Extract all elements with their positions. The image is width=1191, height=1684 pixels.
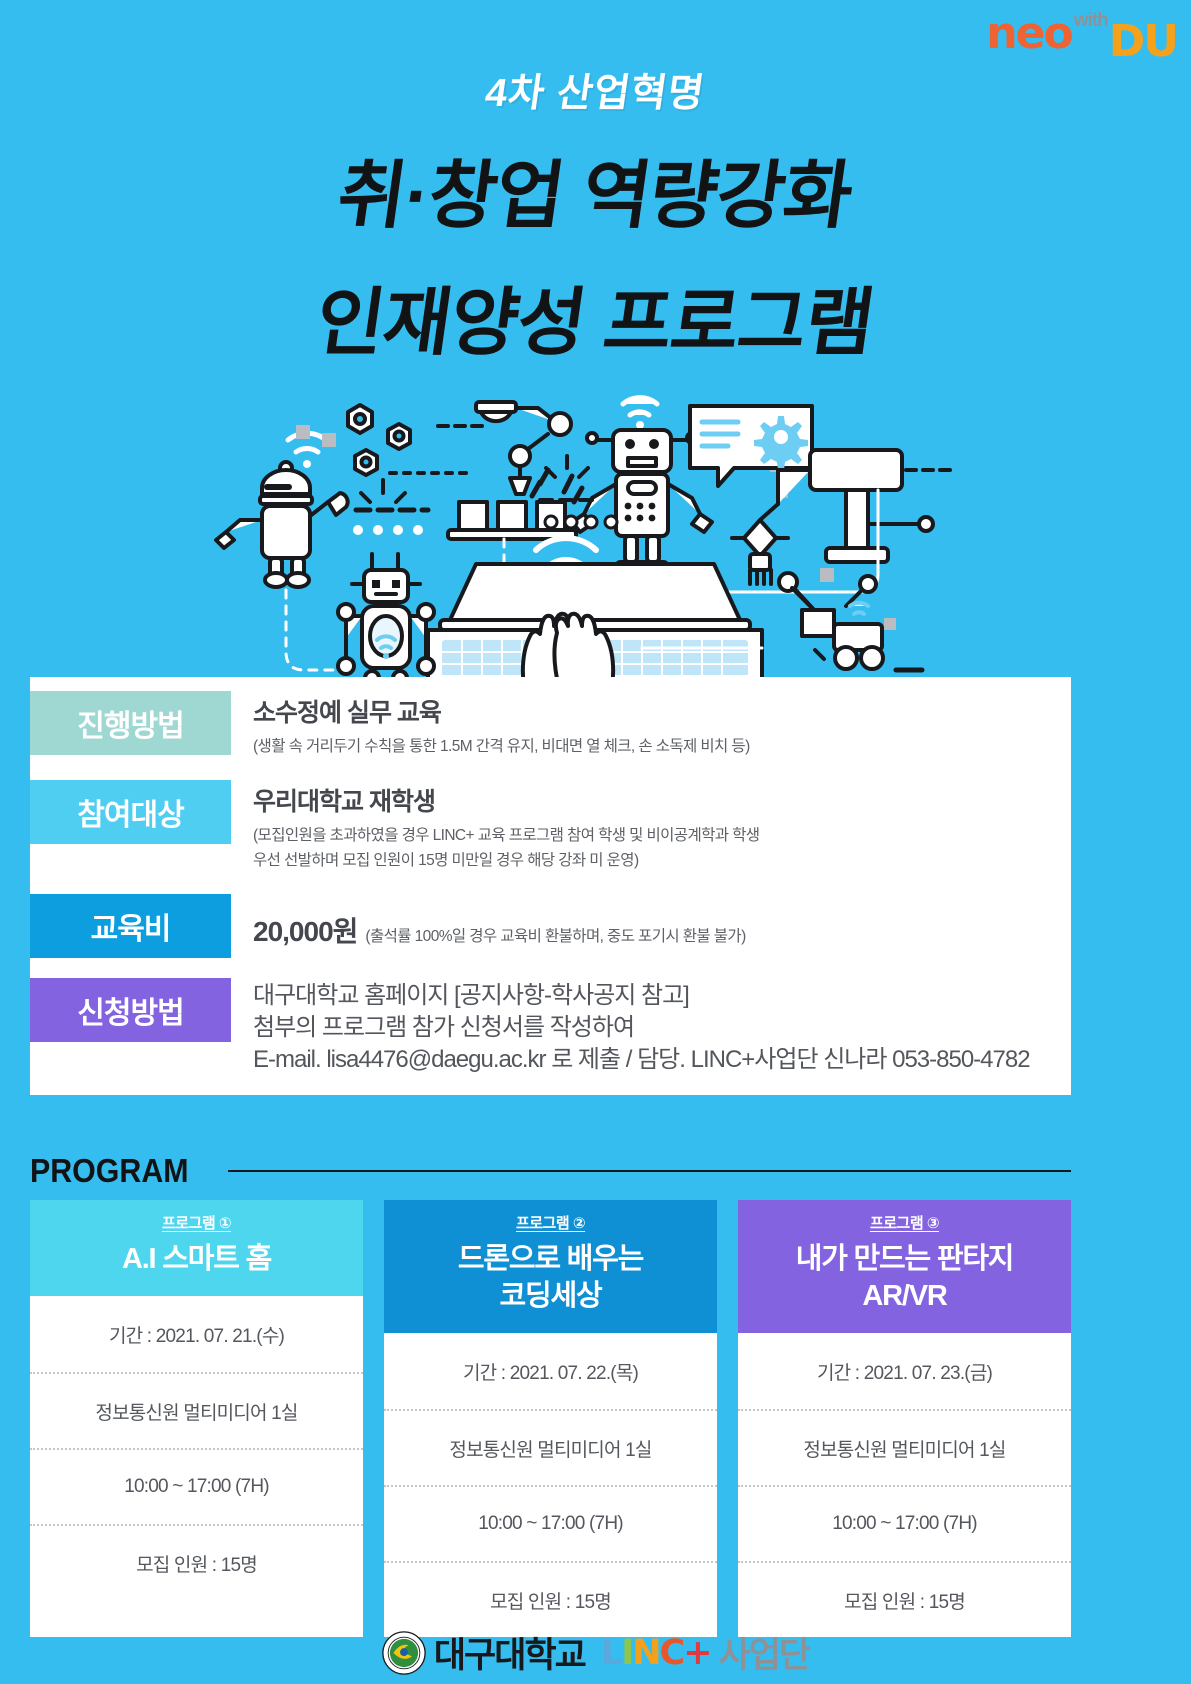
robot-left (216, 462, 348, 587)
info-label-audience: 참여대상 (30, 780, 231, 844)
program-card-1-location: 정보통신원 멀티미디어 1실 (30, 1372, 363, 1448)
info-label-method: 진행방법 (30, 691, 231, 755)
info-body-apply: 대구대학교 홈페이지 [공지사항-학사공지 참고] 첨부의 프로그램 참가 신청… (231, 978, 1030, 1076)
program-card-1[interactable]: 프로그램 ① A.I 스마트 홈 기간 : 2021. 07. 21.(수) 정… (30, 1200, 363, 1637)
robotic-arm-camera (476, 402, 571, 494)
linc-letter-i: I (621, 1633, 632, 1673)
program-card-1-header: 프로그램 ① A.I 스마트 홈 (30, 1200, 363, 1296)
brand-neo-text: neo (986, 8, 1071, 59)
divider (228, 1170, 1071, 1172)
info-row-method: 진행방법 소수정예 실무 교육 (생활 속 거리두기 수칙을 통한 1.5M 간… (30, 691, 1071, 760)
daegu-university-seal-icon (382, 1631, 426, 1675)
program-card-3-location: 정보통신원 멀티미디어 1실 (738, 1409, 1071, 1485)
illustration-svg (0, 378, 1191, 688)
info-sub-audience-1: (모집인원을 초과하였을 경우 LINC+ 교육 프로그램 참여 학생 및 비이… (253, 823, 759, 849)
program-card-2-title: 드론으로 배우는 (394, 1241, 707, 1278)
title-line-1: 취·창업 역량강화 (0, 136, 1191, 243)
info-body-fee: 20,000원 (출석률 100%일 경우 교육비 환불하며, 중도 포기시 환… (231, 894, 746, 950)
program-cards: 프로그램 ① A.I 스마트 홈 기간 : 2021. 07. 21.(수) 정… (30, 1200, 1071, 1637)
title-line-2: 인재양성 프로그램 (0, 263, 1191, 370)
linc-letter-n: N (632, 1633, 659, 1673)
rover-robot (779, 573, 883, 669)
program-card-1-period: 기간 : 2021. 07. 21.(수) (30, 1296, 363, 1372)
program-card-3-body: 기간 : 2021. 07. 23.(금) 정보통신원 멀티미디어 1실 10:… (738, 1333, 1071, 1637)
footer-linc-suffix: 사업단 (719, 1627, 810, 1678)
info-sub-method-1: (생활 속 거리두기 수칙을 통한 1.5M 간격 유지, 비대면 열 체크, … (253, 734, 750, 760)
lightning-icons (532, 470, 582, 502)
nut-icons (348, 405, 410, 475)
footer-logos: 대구대학교 L I N C + 사업단 (0, 1627, 1191, 1678)
info-row-fee: 교육비 20,000원 (출석률 100%일 경우 교육비 환불하며, 중도 포… (30, 894, 1071, 958)
linc-letter-l: L (601, 1633, 621, 1673)
info-row-audience: 참여대상 우리대학교 재학생 (모집인원을 초과하였을 경우 LINC+ 교육 … (30, 780, 1071, 874)
fee-note: (출석률 100%일 경우 교육비 환불하며, 중도 포기시 환불 불가) (365, 924, 745, 946)
program-card-2-period: 기간 : 2021. 07. 22.(목) (384, 1333, 717, 1409)
industry-robots-illustration (0, 378, 1191, 688)
apply-line-3: E-mail. lisa4476@daegu.ac.kr 로 제출 / 담당. … (253, 1044, 1030, 1076)
robot-bottom (338, 554, 434, 685)
linc-letter-plus: + (683, 1633, 710, 1673)
program-card-1-capacity: 모집 인원 : 15명 (30, 1524, 363, 1600)
program-card-1-title: A.I 스마트 홈 (40, 1241, 353, 1278)
linc-letter-c: C (660, 1633, 684, 1673)
brand-du-text: DU (1109, 16, 1177, 67)
apply-line-1: 대구대학교 홈페이지 [공지사항-학사공지 참고] (253, 980, 1030, 1012)
program-card-2-header: 프로그램 ② 드론으로 배우는 코딩세상 (384, 1200, 717, 1333)
footer-linc-logo: L I N C + (601, 1633, 711, 1673)
info-label-apply: 신청방법 (30, 978, 231, 1042)
program-card-3-time: 10:00 ~ 17:00 (7H) (738, 1485, 1071, 1561)
gear-icon (754, 416, 808, 470)
info-sub-audience-2: 우선 선발하며 모집 인원이 15명 미만일 경우 해당 강좌 미 운영) (253, 848, 759, 874)
footer-university-name: 대구대학교 (434, 1627, 585, 1678)
program-card-3-header: 프로그램 ③ 내가 만드는 판타지 AR/VR (738, 1200, 1071, 1333)
program-card-3-title: 내가 만드는 판타지 (748, 1241, 1061, 1278)
fee-amount: 20,000원 (253, 910, 357, 950)
brand-logo: neo with DU (986, 8, 1177, 67)
fee-line: 20,000원 (출석률 100%일 경우 교육비 환불하며, 중도 포기시 환… (253, 896, 746, 950)
title-kicker: 4차 산업혁명 (0, 62, 1191, 118)
program-card-2-title-line2: 코딩세상 (394, 1278, 707, 1315)
apply-line-2: 첨부의 프로그램 참가 신청서를 작성하여 (253, 1012, 1030, 1044)
program-card-2-time: 10:00 ~ 17:00 (7H) (384, 1485, 717, 1561)
wire-2 (286, 590, 334, 670)
program-card-3-capacity: 모집 인원 : 15명 (738, 1561, 1071, 1637)
program-card-2-body: 기간 : 2021. 07. 22.(목) 정보통신원 멀티미디어 1실 10:… (384, 1333, 717, 1637)
info-head-method: 소수정예 실무 교육 (253, 693, 750, 729)
info-head-audience: 우리대학교 재학생 (253, 782, 759, 818)
page-title: PROGRAM (30, 1152, 189, 1190)
program-section-header: PROGRAM (30, 1152, 1071, 1190)
info-body-audience: 우리대학교 재학생 (모집인원을 초과하였을 경우 LINC+ 교육 프로그램 … (231, 780, 759, 874)
brand-with-text: with (1074, 10, 1108, 32)
program-card-1-time: 10:00 ~ 17:00 (7H) (30, 1448, 363, 1524)
info-body-method: 소수정예 실무 교육 (생활 속 거리두기 수칙을 통한 1.5M 간격 유지,… (231, 691, 750, 760)
info-panel: 진행방법 소수정예 실무 교육 (생활 속 거리두기 수칙을 통한 1.5M 간… (30, 677, 1071, 1095)
program-card-3-kicker: 프로그램 ③ (748, 1212, 1061, 1233)
info-label-fee: 교육비 (30, 894, 231, 958)
program-card-2-kicker: 프로그램 ② (394, 1212, 707, 1233)
program-card-2-location: 정보통신원 멀티미디어 1실 (384, 1409, 717, 1485)
wifi-icon-robot-center (623, 398, 657, 429)
program-card-2[interactable]: 프로그램 ② 드론으로 배우는 코딩세상 기간 : 2021. 07. 22.(… (384, 1200, 717, 1637)
program-card-3[interactable]: 프로그램 ③ 내가 만드는 판타지 AR/VR 기간 : 2021. 07. 2… (738, 1200, 1071, 1637)
dot-row-1 (353, 525, 423, 535)
program-card-3-period: 기간 : 2021. 07. 23.(금) (738, 1333, 1071, 1409)
info-row-apply: 신청방법 대구대학교 홈페이지 [공지사항-학사공지 참고] 첨부의 프로그램 … (30, 978, 1071, 1076)
industrial-arm-right (732, 450, 933, 584)
program-card-1-body: 기간 : 2021. 07. 21.(수) 정보통신원 멀티미디어 1실 10:… (30, 1296, 363, 1600)
program-card-1-kicker: 프로그램 ① (40, 1212, 353, 1233)
program-card-3-title-line2: AR/VR (748, 1278, 1061, 1315)
program-card-2-capacity: 모집 인원 : 15명 (384, 1561, 717, 1637)
